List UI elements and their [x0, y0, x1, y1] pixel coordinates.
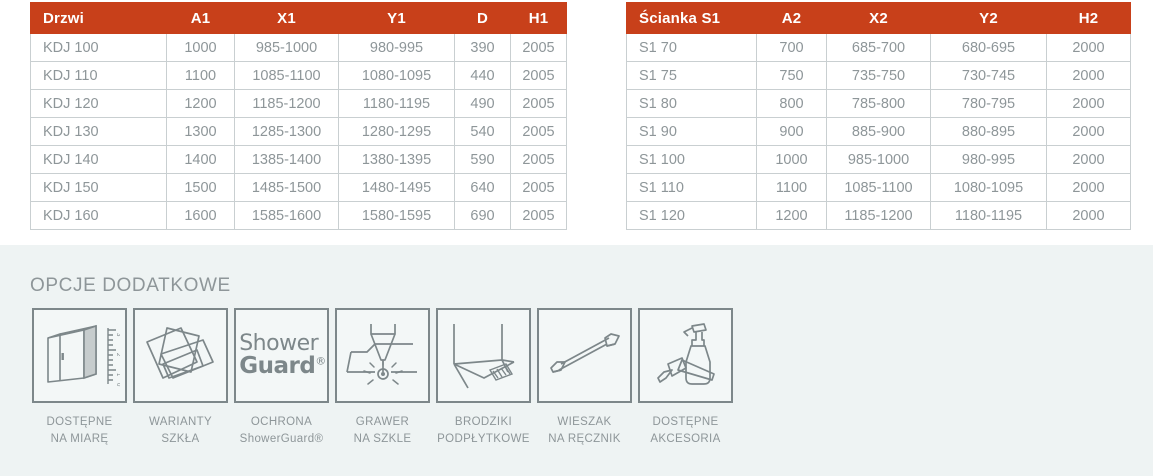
- table-row: KDJ 140 1400 1385-1400 1380-1395 590 200…: [31, 146, 567, 174]
- cell-d: 490: [455, 90, 511, 118]
- column-header-x1: X1: [235, 3, 339, 34]
- column-header-drzwi: Drzwi: [31, 3, 167, 34]
- cell-model: S1 110: [627, 174, 757, 202]
- option-label: GRAWER NA SZKLE: [354, 414, 412, 447]
- cell-a1: 1200: [167, 90, 235, 118]
- cell-y1: 1580-1595: [339, 202, 455, 230]
- table-row: S1 90 900 885-900 880-895 2000: [627, 118, 1131, 146]
- side-wall-dimension-table: Ścianka S1 A2 X2 Y2 H2 S1 70 700 685-700…: [626, 2, 1131, 230]
- column-header-y1: Y1: [339, 3, 455, 34]
- svg-text:2: 2: [115, 353, 120, 357]
- cell-a2: 800: [757, 90, 827, 118]
- option-item-shower-tray[interactable]: BRODZIKI PODPŁYTKOWE: [434, 308, 533, 447]
- cell-d: 690: [455, 202, 511, 230]
- table-row: KDJ 130 1300 1285-1300 1280-1295 540 200…: [31, 118, 567, 146]
- cell-model: KDJ 100: [31, 34, 167, 62]
- option-label: OCHRONA ShowerGuard®: [240, 414, 324, 447]
- table-row: S1 100 1000 985-1000 980-995 2000: [627, 146, 1131, 174]
- cell-h2: 2000: [1047, 34, 1131, 62]
- option-item-towel-rail[interactable]: WIESZAK NA RĘCZNIK: [535, 308, 634, 447]
- column-header-d: D: [455, 3, 511, 34]
- option-icon-box: [133, 308, 228, 403]
- table-row: KDJ 120 1200 1185-1200 1180-1195 490 200…: [31, 90, 567, 118]
- cell-h2: 2000: [1047, 62, 1131, 90]
- cell-h2: 2000: [1047, 118, 1131, 146]
- option-label: WIESZAK NA RĘCZNIK: [548, 414, 621, 447]
- cell-a1: 1000: [167, 34, 235, 62]
- cell-model: S1 100: [627, 146, 757, 174]
- cell-x1: 1485-1500: [235, 174, 339, 202]
- cell-y2: 680-695: [931, 34, 1047, 62]
- cell-h2: 2000: [1047, 90, 1131, 118]
- options-section-title: OPCJE DODATKOWE: [30, 275, 231, 297]
- cell-d: 390: [455, 34, 511, 62]
- cell-h1: 2005: [511, 62, 567, 90]
- column-header-y2: Y2: [931, 3, 1047, 34]
- cell-h2: 2000: [1047, 202, 1131, 230]
- cell-x1: 985-1000: [235, 34, 339, 62]
- cell-x2: 685-700: [827, 34, 931, 62]
- cell-h2: 2000: [1047, 146, 1131, 174]
- cell-a2: 1100: [757, 174, 827, 202]
- cell-x2: 1185-1200: [827, 202, 931, 230]
- table-row: KDJ 110 1100 1085-1100 1080-1095 440 200…: [31, 62, 567, 90]
- cell-y1: 1080-1095: [339, 62, 455, 90]
- cell-a2: 1000: [757, 146, 827, 174]
- option-icon-box: [335, 308, 430, 403]
- cell-model: KDJ 140: [31, 146, 167, 174]
- cell-model: KDJ 150: [31, 174, 167, 202]
- cell-model: KDJ 110: [31, 62, 167, 90]
- shower-enclosure-ruler-icon: 3 2 1 0: [40, 320, 120, 392]
- column-header-h1: H1: [511, 3, 567, 34]
- registered-mark-icon: ®: [315, 354, 326, 367]
- option-icon-box: [436, 308, 531, 403]
- additional-options-panel: OPCJE DODATKOWE: [0, 245, 1153, 476]
- options-icon-row: 3 2 1 0 DOSTĘPNE NA MIARĘ: [30, 308, 735, 447]
- cell-a2: 700: [757, 34, 827, 62]
- cell-model: S1 70: [627, 34, 757, 62]
- cell-d: 540: [455, 118, 511, 146]
- doors-dimension-table: Drzwi A1 X1 Y1 D H1 KDJ 100 1000 985-100…: [30, 2, 567, 230]
- cell-d: 590: [455, 146, 511, 174]
- cell-x1: 1185-1200: [235, 90, 339, 118]
- specification-tables-region: Drzwi A1 X1 Y1 D H1 KDJ 100 1000 985-100…: [0, 0, 1153, 243]
- table-row: KDJ 100 1000 985-1000 980-995 390 2005: [31, 34, 567, 62]
- cell-a2: 900: [757, 118, 827, 146]
- showerguard-logo-line1: Shower: [239, 333, 326, 355]
- option-icon-box: 3 2 1 0: [32, 308, 127, 403]
- table-row: KDJ 150 1500 1485-1500 1480-1495 640 200…: [31, 174, 567, 202]
- table-row: KDJ 160 1600 1585-1600 1580-1595 690 200…: [31, 202, 567, 230]
- cell-y2: 1180-1195: [931, 202, 1047, 230]
- cell-model: KDJ 120: [31, 90, 167, 118]
- option-item-glass-variants[interactable]: WARIANTY SZKŁA: [131, 308, 230, 447]
- table-row: S1 120 1200 1185-1200 1180-1195 2000: [627, 202, 1131, 230]
- cell-model: S1 120: [627, 202, 757, 230]
- option-item-glass-engraving[interactable]: GRAWER NA SZKLE: [333, 308, 432, 447]
- cell-a1: 1500: [167, 174, 235, 202]
- cell-d: 640: [455, 174, 511, 202]
- column-header-a1: A1: [167, 3, 235, 34]
- cell-a1: 1400: [167, 146, 235, 174]
- cell-model: S1 75: [627, 62, 757, 90]
- option-icon-box: Shower Guard®: [234, 308, 329, 403]
- option-label: DOSTĘPNE NA MIARĘ: [46, 414, 112, 447]
- cell-h1: 2005: [511, 34, 567, 62]
- cell-x2: 985-1000: [827, 146, 931, 174]
- table-row: S1 110 1100 1085-1100 1080-1095 2000: [627, 174, 1131, 202]
- option-icon-box: [638, 308, 733, 403]
- cell-x2: 785-800: [827, 90, 931, 118]
- table-header-row: Ścianka S1 A2 X2 Y2 H2: [627, 3, 1131, 34]
- cell-model: S1 90: [627, 118, 757, 146]
- cell-a2: 750: [757, 62, 827, 90]
- cell-x1: 1585-1600: [235, 202, 339, 230]
- glass-engraving-icon: [343, 320, 423, 392]
- cell-h1: 2005: [511, 174, 567, 202]
- option-label: WARIANTY SZKŁA: [149, 414, 212, 447]
- cell-h1: 2005: [511, 90, 567, 118]
- cell-x1: 1085-1100: [235, 62, 339, 90]
- cell-y2: 1080-1095: [931, 174, 1047, 202]
- cell-y1: 1380-1395: [339, 146, 455, 174]
- glass-panes-icon: [141, 320, 221, 392]
- option-item-showerguard[interactable]: Shower Guard® OCHRONA ShowerGuard®: [232, 308, 331, 447]
- cell-x2: 735-750: [827, 62, 931, 90]
- table-row: S1 80 800 785-800 780-795 2000: [627, 90, 1131, 118]
- cell-a2: 1200: [757, 202, 827, 230]
- cell-h1: 2005: [511, 146, 567, 174]
- table-row: S1 70 700 685-700 680-695 2000: [627, 34, 1131, 62]
- cell-a1: 1100: [167, 62, 235, 90]
- option-icon-box: [537, 308, 632, 403]
- cell-y2: 880-895: [931, 118, 1047, 146]
- shower-tray-drain-icon: [444, 320, 524, 392]
- column-header-scianka-s1: Ścianka S1: [627, 3, 757, 34]
- cell-h1: 2005: [511, 202, 567, 230]
- cell-y1: 1280-1295: [339, 118, 455, 146]
- cell-y2: 730-745: [931, 62, 1047, 90]
- cell-x1: 1285-1300: [235, 118, 339, 146]
- cell-a1: 1300: [167, 118, 235, 146]
- towel-rail-icon: [545, 320, 625, 392]
- cell-y1: 1480-1495: [339, 174, 455, 202]
- cell-y2: 780-795: [931, 90, 1047, 118]
- cell-model: KDJ 130: [31, 118, 167, 146]
- showerguard-logo-line2: Guard: [239, 353, 315, 379]
- cell-x1: 1385-1400: [235, 146, 339, 174]
- cell-x2: 885-900: [827, 118, 931, 146]
- option-label: DOSTĘPNE AKCESORIA: [650, 414, 720, 447]
- option-label: BRODZIKI PODPŁYTKOWE: [437, 414, 530, 447]
- cell-y1: 980-995: [339, 34, 455, 62]
- column-header-h2: H2: [1047, 3, 1131, 34]
- table-header-row: Drzwi A1 X1 Y1 D H1: [31, 3, 567, 34]
- option-item-made-to-measure[interactable]: 3 2 1 0 DOSTĘPNE NA MIARĘ: [30, 308, 129, 447]
- cell-y1: 1180-1195: [339, 90, 455, 118]
- cell-d: 440: [455, 62, 511, 90]
- cell-x2: 1085-1100: [827, 174, 931, 202]
- option-item-accessories[interactable]: DOSTĘPNE AKCESORIA: [636, 308, 735, 447]
- cell-h2: 2000: [1047, 174, 1131, 202]
- column-header-x2: X2: [827, 3, 931, 34]
- svg-text:1: 1: [115, 373, 120, 377]
- column-header-a2: A2: [757, 3, 827, 34]
- cell-model: S1 80: [627, 90, 757, 118]
- svg-text:3: 3: [115, 333, 120, 337]
- table-row: S1 75 750 735-750 730-745 2000: [627, 62, 1131, 90]
- cell-y2: 980-995: [931, 146, 1047, 174]
- spray-squeegee-icon: [646, 320, 726, 392]
- cell-a1: 1600: [167, 202, 235, 230]
- showerguard-logo-icon: Shower Guard®: [237, 333, 326, 377]
- cell-h1: 2005: [511, 118, 567, 146]
- cell-model: KDJ 160: [31, 202, 167, 230]
- svg-text:0: 0: [115, 383, 120, 387]
